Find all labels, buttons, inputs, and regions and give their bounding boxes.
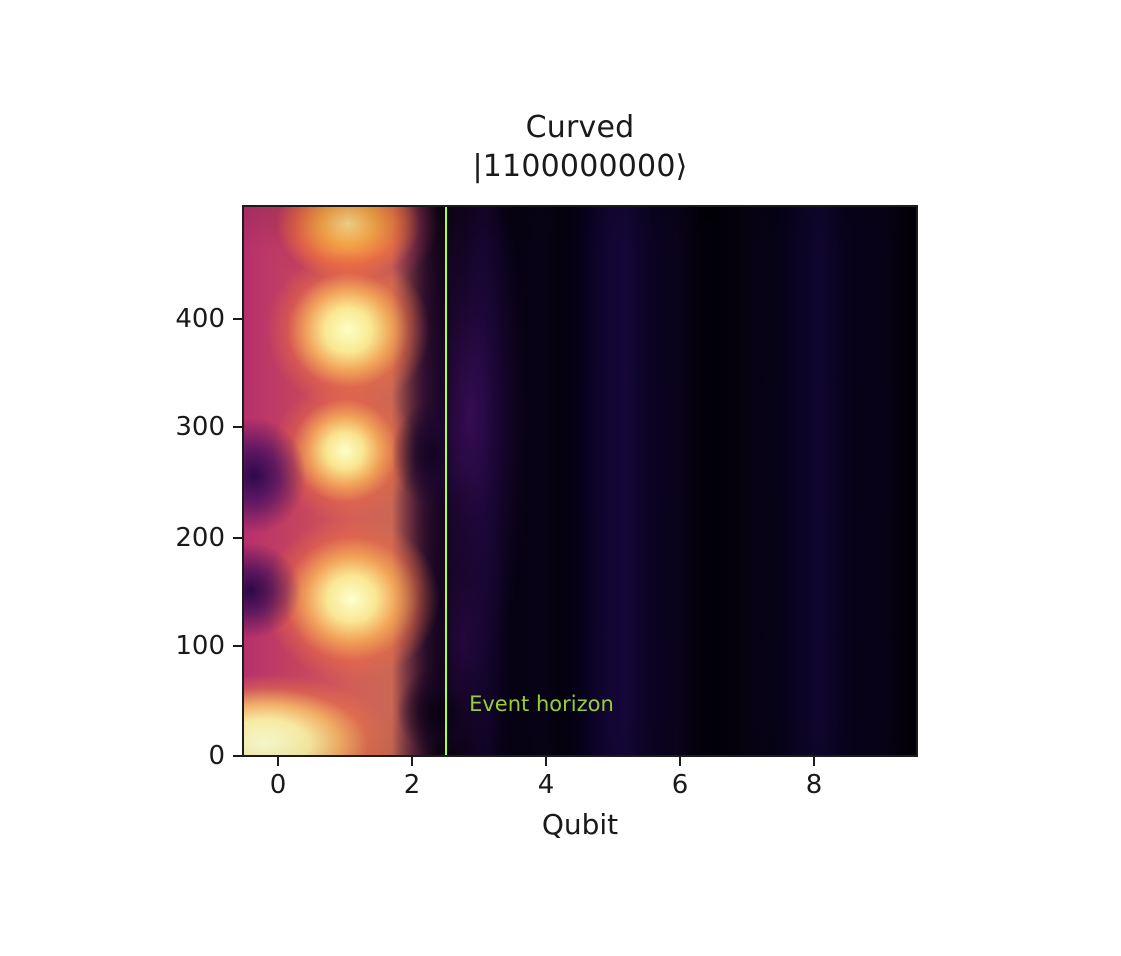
figure-canvas: Curved |1100000000⟩	[0, 0, 1121, 956]
heatmap-smoothing-overlay	[244, 207, 916, 755]
ytick-mark-100	[233, 645, 242, 647]
xtick-label-0: 0	[270, 770, 287, 800]
chart-title-line-1: Curved	[242, 108, 918, 147]
event-horizon-line	[445, 207, 447, 755]
xtick-mark-8	[813, 757, 815, 766]
chart-title-line-2: |1100000000⟩	[242, 147, 918, 186]
ytick-mark-0	[233, 755, 242, 757]
heatmap-image: Event horizon	[244, 207, 916, 755]
ytick-label-0: 0	[208, 741, 225, 771]
xtick-label-4: 4	[538, 770, 555, 800]
xtick-mark-0	[277, 757, 279, 766]
plot-axes: Event horizon	[242, 205, 918, 757]
x-axis-label: Qubit	[242, 808, 918, 841]
ytick-label-400: 400	[175, 304, 225, 334]
ytick-label-300: 300	[175, 412, 225, 442]
event-horizon-label: Event horizon	[469, 692, 614, 716]
ytick-label-100: 100	[175, 631, 225, 661]
xtick-mark-2	[411, 757, 413, 766]
xtick-label-2: 2	[404, 770, 421, 800]
ytick-label-200: 200	[175, 523, 225, 553]
xtick-mark-4	[545, 757, 547, 766]
ytick-mark-400	[233, 318, 242, 320]
ytick-mark-300	[233, 426, 242, 428]
chart-title: Curved |1100000000⟩	[242, 108, 918, 186]
xtick-mark-6	[679, 757, 681, 766]
xtick-label-8: 8	[806, 770, 823, 800]
ytick-mark-200	[233, 537, 242, 539]
xtick-label-6: 6	[672, 770, 689, 800]
